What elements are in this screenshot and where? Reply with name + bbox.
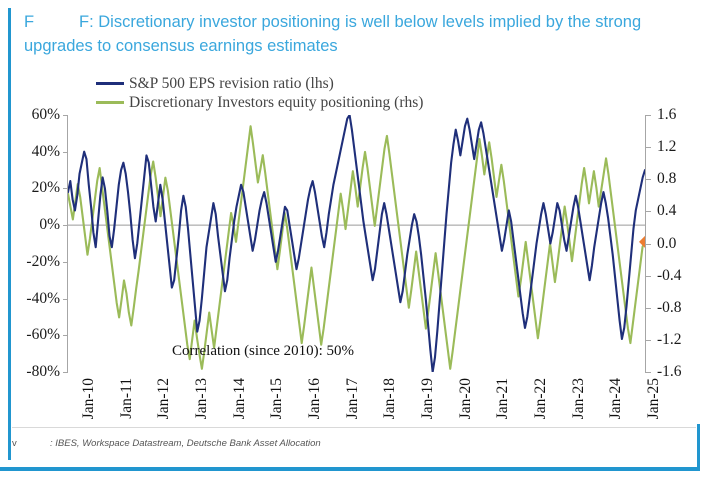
legend-label-eps: S&P 500 EPS revision ratio (lhs)	[129, 75, 334, 93]
y-tick-right	[646, 147, 651, 148]
y-tick-label-left: 40%	[4, 143, 60, 161]
y-tick-right	[646, 308, 651, 309]
x-tick-label: Jan-20	[457, 378, 475, 419]
chart-legend: S&P 500 EPS revision ratio (lhs) Discret…	[96, 74, 423, 112]
x-tick-label: Jan-18	[381, 378, 399, 419]
y-tick-right	[646, 179, 651, 180]
source-note: v: IBES, Workspace Datastream, Deutsche …	[12, 438, 692, 449]
x-tick-label: Jan-10	[80, 378, 98, 419]
x-tick-label: Jan-13	[193, 378, 211, 419]
y-tick-right	[646, 372, 651, 373]
x-tick-label: Jan-19	[419, 378, 437, 419]
y-tick-label-right: 0.0	[657, 235, 711, 253]
y-tick-right	[646, 276, 651, 277]
plot-area	[68, 115, 645, 372]
y-tick-label-right: 1.6	[657, 106, 711, 124]
y-tick-label-right: 0.8	[657, 170, 711, 188]
y-tick-label-right: -1.2	[657, 331, 711, 349]
y-tick-label-left: 20%	[4, 179, 60, 197]
series-canvas	[68, 115, 645, 372]
y-tick-label-left: 0%	[4, 216, 60, 234]
correlation-annotation: Correlation (since 2010): 50%	[172, 343, 354, 360]
y-tick-label-right: -0.4	[657, 267, 711, 285]
x-tick-label: Jan-11	[118, 378, 136, 419]
figure-tag: F	[24, 10, 79, 34]
y-tick-left	[63, 372, 68, 373]
x-tick-label: Jan-15	[268, 378, 286, 419]
x-tick-label: Jan-17	[344, 378, 362, 419]
y-tick-label-left: -40%	[4, 290, 60, 308]
y-tick-right	[646, 340, 651, 341]
x-tick-label: Jan-25	[645, 378, 663, 419]
y-tick-label-right: 1.2	[657, 138, 711, 156]
legend-label-positioning: Discretionary Investors equity positioni…	[129, 94, 423, 112]
chart-container: S&P 500 EPS revision ratio (lhs) Discret…	[0, 66, 711, 386]
y-tick-label-left: -60%	[4, 326, 60, 344]
y-tick-label-left: -80%	[4, 363, 60, 381]
page-title: FF: Discretionary investor positioning i…	[24, 10, 674, 58]
frame-border-right	[697, 424, 700, 470]
y-tick-right	[646, 115, 651, 116]
legend-swatch-eps	[96, 82, 124, 85]
x-tick-label: Jan-23	[570, 378, 588, 419]
legend-item-eps: S&P 500 EPS revision ratio (lhs)	[96, 74, 423, 93]
y-tick-right	[646, 211, 651, 212]
y-tick-label-left: -20%	[4, 253, 60, 271]
legend-item-positioning: Discretionary Investors equity positioni…	[96, 93, 423, 112]
y-tick-label-right: -1.6	[657, 363, 711, 381]
x-tick-label: Jan-24	[607, 378, 625, 419]
y-tick-right	[646, 244, 651, 245]
x-tick-label: Jan-14	[231, 378, 249, 419]
page-title-text: F: Discretionary investor positioning is…	[24, 13, 641, 55]
y-tick-label-right: 0.4	[657, 202, 711, 220]
frame-border-bottom	[0, 467, 700, 471]
source-text: : IBES, Workspace Datastream, Deutsche B…	[50, 438, 321, 449]
x-tick-label: Jan-21	[494, 378, 512, 419]
x-tick-label: Jan-16	[306, 378, 324, 419]
x-tick-label: Jan-22	[532, 378, 550, 419]
y-tick-label-right: -0.8	[657, 299, 711, 317]
y-tick-label-left: 60%	[4, 106, 60, 124]
legend-swatch-positioning	[96, 101, 124, 104]
footer-divider	[12, 427, 696, 428]
x-tick-label: Jan-12	[155, 378, 173, 419]
source-tag: v	[12, 438, 50, 449]
series-line-eps	[68, 115, 645, 372]
chart-page: FF: Discretionary investor positioning i…	[0, 0, 711, 492]
